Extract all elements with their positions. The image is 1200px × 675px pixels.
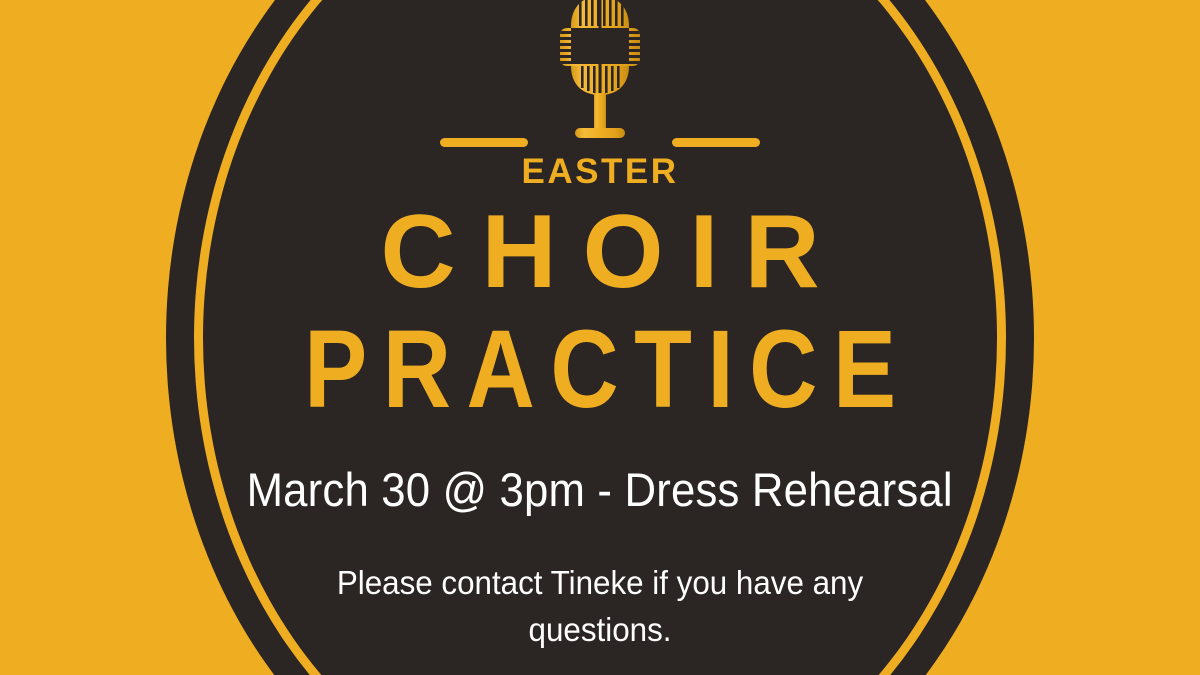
poster-content: EASTER CHOIR PRACTICE March 30 @ 3pm - D…	[0, 0, 1200, 675]
event-datetime-line: March 30 @ 3pm - Dress Rehearsal	[247, 464, 953, 516]
headline-kicker: EASTER	[522, 154, 679, 189]
decorative-rule-row	[0, 138, 1200, 147]
headline-line-1: CHOIR	[354, 203, 845, 303]
dash-rule-left	[440, 138, 528, 147]
poster-canvas: EASTER CHOIR PRACTICE March 30 @ 3pm - D…	[0, 0, 1200, 675]
dash-rule-right	[672, 138, 760, 147]
vintage-microphone-icon	[535, 0, 665, 146]
contact-note: Please contact Tineke if you have any qu…	[315, 560, 885, 654]
headline-line-2: PRACTICE	[289, 317, 912, 423]
microphone-graphic	[535, 0, 665, 146]
